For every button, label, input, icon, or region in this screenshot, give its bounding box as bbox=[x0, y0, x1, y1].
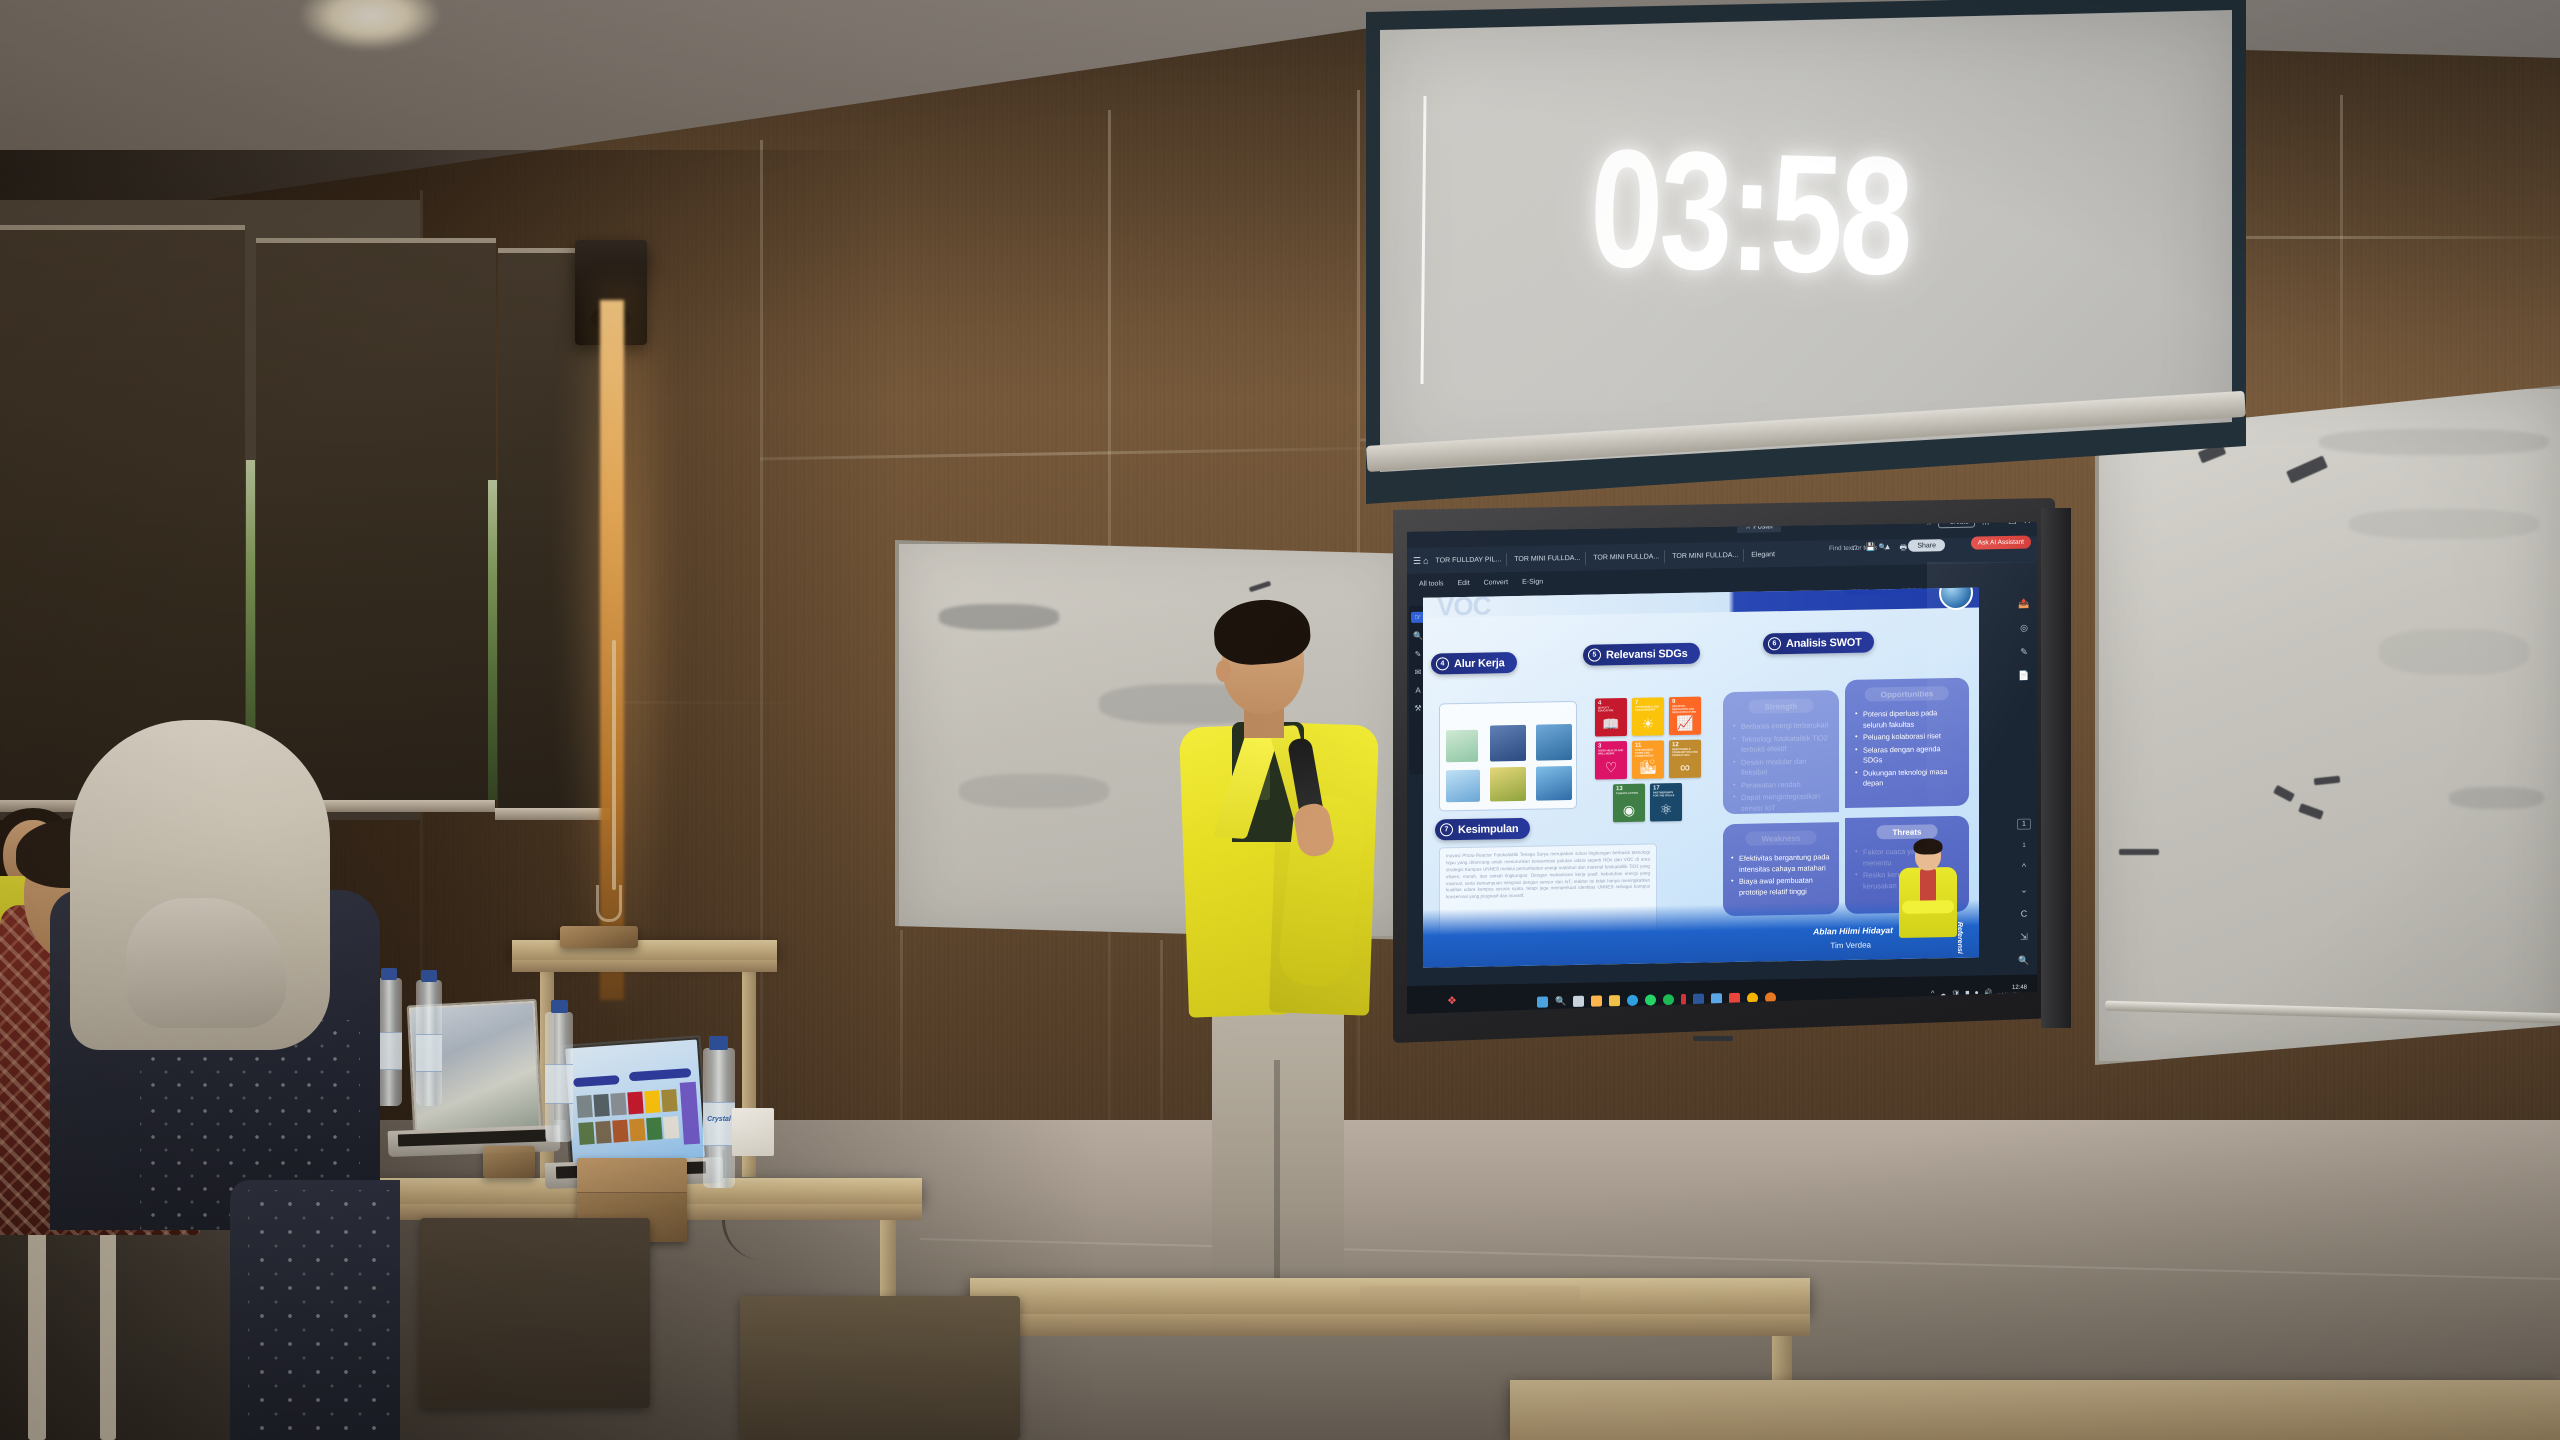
acrobat-right-toolrail[interactable]: 📤 ◎ ✎ 📄 1 1 ^ ⌄ C ⇲ 🔍 🔍 bbox=[2013, 590, 2035, 990]
section-label: Alur Kerja bbox=[1454, 657, 1505, 670]
close-button[interactable]: ✕ bbox=[2023, 522, 2031, 526]
folder-icon[interactable] bbox=[1609, 995, 1620, 1006]
clock-time: 12:48 bbox=[1997, 985, 2027, 993]
sdg-icon: 3 GOOD HEALTH AND WELL-BEING ♡ bbox=[1595, 741, 1627, 780]
sdg-label: INDUSTRY, INNOVATION AND INFRASTRUCTURE bbox=[1672, 706, 1698, 715]
whiteboard-mark bbox=[2286, 455, 2328, 483]
zoom-out-icon[interactable]: 🔍 bbox=[2018, 956, 2029, 967]
wooden-box-lid bbox=[577, 1158, 687, 1193]
menu-convert[interactable]: Convert bbox=[1484, 579, 1509, 586]
sdg-label: GOOD HEALTH AND WELL-BEING bbox=[1598, 750, 1624, 756]
file-explorer-icon[interactable] bbox=[1591, 995, 1602, 1006]
swot-weakness-list: Efektivitas bergantung pada intensitas c… bbox=[1731, 852, 1839, 900]
section-label: Kesimpulan bbox=[1458, 822, 1518, 835]
swot-strength-title: Strength bbox=[1749, 699, 1814, 714]
sdg-glyph-icon: ∞ bbox=[1680, 759, 1690, 775]
onedrive-icon[interactable] bbox=[1711, 993, 1722, 1004]
acrobat-window[interactable]: ☆ Poster x + Create ... – ❐ ✕ ☰ ⌂ bbox=[1407, 522, 2037, 1016]
sdg-glyph-icon: ⚛ bbox=[1660, 801, 1673, 818]
laptop-2-poster-icons bbox=[576, 1088, 695, 1148]
sdg-icon: 4 QUALITY EDUCATION 📖 bbox=[1595, 698, 1627, 737]
sdg-label: CLIMATE ACTION bbox=[1616, 793, 1642, 796]
whiteboard-smudge bbox=[2379, 629, 2529, 675]
smart-display[interactable]: ☆ Poster x + Create ... – ❐ ✕ ☰ ⌂ bbox=[1393, 498, 2055, 1043]
office-icon[interactable] bbox=[1681, 994, 1686, 1005]
tab-document-0[interactable]: TOR FULLDAY PIL... bbox=[1431, 553, 1508, 567]
far-table bbox=[1510, 1380, 2560, 1440]
section-pill-relevansi-sdgs: 5 Relevansi SDGs bbox=[1583, 643, 1700, 666]
list-item: Perawatan rendah bbox=[1733, 779, 1831, 791]
whiteboard-smudge bbox=[959, 774, 1109, 808]
whiteboard-mark bbox=[2449, 787, 2544, 809]
sdg-glyph-icon: 📈 bbox=[1676, 715, 1693, 732]
chair-front[interactable] bbox=[420, 1218, 650, 1408]
small-wooden-block bbox=[483, 1146, 535, 1178]
whiteboard-mark bbox=[2119, 849, 2159, 855]
save-icon[interactable]: 💾 bbox=[1866, 542, 1876, 556]
section-number: 5 bbox=[1588, 648, 1601, 661]
comment-icon[interactable]: ◎ bbox=[2020, 623, 2028, 634]
section-pill-alur-kerja: 4 Alur Kerja bbox=[1431, 652, 1517, 675]
flow-thumbnail bbox=[1536, 724, 1572, 761]
page-current[interactable]: 1 bbox=[2017, 819, 2031, 830]
swot-opportunities-list: Potensi diperluas pada seluruh fakultas … bbox=[1855, 708, 1961, 792]
bottle-cap bbox=[709, 1036, 728, 1050]
presenter-ear bbox=[1216, 660, 1231, 682]
table-cable-grommet bbox=[1360, 1286, 1580, 1308]
tab-document-4[interactable]: Elegant bbox=[1746, 548, 1780, 562]
menu-esign[interactable]: E-Sign bbox=[1522, 578, 1543, 585]
classroom-scene: 03:58 ☆ Poster x + Create ... – bbox=[0, 0, 2560, 1440]
presenter-portrait bbox=[1897, 840, 1959, 937]
sdg-glyph-icon: 📖 bbox=[1602, 716, 1619, 733]
bottle-cap bbox=[551, 1000, 568, 1013]
swot-opportunities-title: Opportunities bbox=[1865, 686, 1949, 702]
whiteboard-smudge bbox=[2349, 509, 2539, 539]
whiteboard-mark bbox=[1249, 581, 1271, 593]
hamburger-menu-icon[interactable]: ☰ bbox=[1413, 555, 1421, 566]
section-label: Analisis SWOT bbox=[1786, 636, 1862, 649]
sdg-icon: 11 SUSTAINABLE CITIES AND COMMUNITIES 🏙 bbox=[1632, 740, 1664, 779]
flow-thumbnail bbox=[1446, 730, 1478, 763]
zoom-tool-icon[interactable]: 🔍 bbox=[1413, 632, 1423, 641]
home-icon[interactable]: ⌂ bbox=[1423, 556, 1428, 566]
display-screen[interactable]: ☆ Poster x + Create ... – ❐ ✕ ☰ ⌂ bbox=[1407, 522, 2037, 1016]
sdg-icon: 17 PARTNERSHIPS FOR THE GOALS ⚛ bbox=[1650, 783, 1682, 822]
menu-edit[interactable]: Edit bbox=[1458, 579, 1470, 586]
list-item: Dukungan teknologi masa depan bbox=[1855, 767, 1961, 790]
draw-icon[interactable]: ⚒ bbox=[1414, 704, 1421, 713]
whiteboard-tray bbox=[2105, 1001, 2560, 1024]
search-icon[interactable]: 🔍 bbox=[1555, 996, 1566, 1007]
highlight-icon[interactable]: ✎ bbox=[1415, 650, 1422, 659]
sdg-glyph-icon: ◉ bbox=[1623, 802, 1635, 819]
portrait-shirt bbox=[1920, 868, 1936, 902]
hijab-dress-lower-pattern bbox=[248, 1190, 398, 1440]
sdg-glyph-icon: 🏙 bbox=[1639, 758, 1657, 775]
laptop-2-screen bbox=[565, 1040, 705, 1167]
section-number: 6 bbox=[1768, 637, 1781, 650]
tab-document-2[interactable]: TOR MINI FULLDA... bbox=[1588, 550, 1665, 564]
swot-weakness-title: Weakness bbox=[1746, 830, 1817, 845]
fill-sign-icon[interactable]: ✎ bbox=[2020, 647, 2028, 658]
poster-author-name: Ablan Hilmi Hidayat bbox=[1813, 925, 1893, 936]
headphones-icon[interactable]: ♫ bbox=[1852, 543, 1858, 557]
list-item: Selaras dengan agenda SDGs bbox=[1855, 744, 1961, 767]
white-box bbox=[732, 1108, 774, 1156]
flow-thumbnail bbox=[1446, 770, 1480, 803]
list-item: Desain modular dan fleksibel bbox=[1733, 756, 1831, 779]
poster-document[interactable]: VOC Sensor Kualitas Udara 4 Alur Kerja 5… bbox=[1423, 588, 1979, 968]
whiteboard-mark bbox=[2273, 785, 2295, 802]
bottle-brand-label: Crystal bbox=[703, 1116, 735, 1123]
display-brand-strip bbox=[1693, 1036, 1733, 1041]
poster-reference-label: Referensi bbox=[1956, 922, 1963, 954]
swot-strength: Strength Berbasis energi terbarukan Tekn… bbox=[1723, 690, 1839, 814]
panel-seam bbox=[2340, 95, 2343, 455]
word-icon[interactable] bbox=[1693, 994, 1704, 1005]
sdg-icon: 9 INDUSTRY, INNOVATION AND INFRASTRUCTUR… bbox=[1669, 697, 1701, 736]
section-number: 7 bbox=[1440, 823, 1453, 836]
display-side-panel bbox=[2041, 508, 2071, 1028]
section-pill-kesimpulan: 7 Kesimpulan bbox=[1435, 818, 1530, 841]
ask-ai-assistant-button[interactable]: Ask AI Assistant bbox=[1971, 536, 2031, 550]
portrait-arms bbox=[1902, 900, 1954, 914]
whiteboard-smudge bbox=[939, 604, 1059, 630]
tab-document-1[interactable]: TOR MINI FULLDA... bbox=[1509, 551, 1586, 565]
laptop-2-poster-pill bbox=[573, 1075, 620, 1087]
whiteboard-mark bbox=[2298, 803, 2324, 820]
list-item: Teknologi fotokatalitik TiO2 terbukti ef… bbox=[1733, 733, 1831, 756]
chevron-up-icon[interactable]: ^ bbox=[2022, 862, 2026, 872]
acrobat-toolbar-icons[interactable]: ♫ 💾 ▲ 🖶 bbox=[1852, 542, 1907, 557]
tab-document-3[interactable]: TOR MINI FULLDA... bbox=[1667, 548, 1744, 562]
blind-pull-cord[interactable] bbox=[612, 640, 616, 890]
sdg-icon-grid: 4 QUALITY EDUCATION 📖 7 AFFORDABLE AND C… bbox=[1595, 696, 1711, 822]
list-item: Potensi diperluas pada seluruh fakultas bbox=[1855, 708, 1961, 731]
bottle-label bbox=[703, 1102, 735, 1146]
organize-pages-icon[interactable]: 📄 bbox=[2018, 671, 2029, 682]
sdg-icon: 7 AFFORDABLE AND CLEAN ENERGY ☀ bbox=[1632, 697, 1664, 736]
student-presenter bbox=[1178, 600, 1388, 1290]
section-number: 4 bbox=[1436, 657, 1449, 670]
alur-kerja-diagram bbox=[1439, 701, 1577, 812]
whatsapp-icon[interactable] bbox=[1645, 994, 1656, 1005]
sdg-icon: 13 CLIMATE ACTION ◉ bbox=[1613, 784, 1645, 823]
list-item: Peluang kolaborasi riset bbox=[1855, 731, 1961, 744]
window-gap-foliage bbox=[488, 480, 497, 800]
spotify-icon[interactable] bbox=[1663, 994, 1674, 1005]
sdg-glyph-icon: ♡ bbox=[1605, 759, 1618, 776]
swot-threats-title: Threats bbox=[1877, 824, 1938, 839]
podium-wooden-item bbox=[560, 926, 638, 948]
upload-icon[interactable]: ▲ bbox=[1884, 542, 1892, 556]
projector-guide-line bbox=[1420, 96, 1426, 384]
podium-table-top bbox=[512, 940, 777, 960]
section-label: Relevansi SDGs bbox=[1606, 647, 1688, 660]
maximize-button[interactable]: ❐ bbox=[2008, 522, 2016, 526]
presenter-trousers bbox=[1212, 1000, 1344, 1290]
bottle-label bbox=[545, 1064, 573, 1104]
start-icon[interactable]: ❖ bbox=[1447, 994, 1457, 1007]
share-button[interactable]: Share bbox=[1908, 539, 1945, 552]
text-icon[interactable]: A bbox=[1415, 686, 1420, 695]
sdg-label: QUALITY EDUCATION bbox=[1598, 707, 1624, 713]
acrobat-icon[interactable] bbox=[1729, 993, 1740, 1004]
laptop-2-poster-pill bbox=[629, 1068, 691, 1081]
widgets-icon[interactable] bbox=[1573, 996, 1584, 1007]
page-total: 1 bbox=[2022, 843, 2025, 849]
sdg-glyph-icon: ☀ bbox=[1642, 715, 1655, 732]
portrait-hair bbox=[1914, 838, 1943, 855]
window-blind[interactable] bbox=[0, 225, 245, 805]
edge-icon[interactable] bbox=[1627, 995, 1638, 1006]
sdg-label: SUSTAINABLE CITIES AND COMMUNITIES bbox=[1635, 749, 1661, 758]
list-item: Berbasis energi terbarukan bbox=[1733, 720, 1831, 732]
rotate-icon[interactable]: C bbox=[2021, 909, 2028, 919]
comment-icon[interactable]: ✉ bbox=[1415, 668, 1422, 677]
list-item: Biaya awal pembuatan prototipe relatif t… bbox=[1731, 875, 1839, 898]
poster-team-name: Tim Verdea bbox=[1830, 940, 1871, 950]
foreground-table-edge bbox=[970, 1314, 1810, 1336]
fit-page-icon[interactable]: ⇲ bbox=[2020, 932, 2028, 943]
chevron-down-icon[interactable]: ⌄ bbox=[2020, 885, 2028, 896]
sdg-label: AFFORDABLE AND CLEAN ENERGY bbox=[1635, 706, 1661, 712]
poster-ghost-text: VOC bbox=[1437, 590, 1490, 622]
export-pdf-icon[interactable]: 📤 bbox=[2018, 599, 2029, 610]
menu-all-tools[interactable]: All tools bbox=[1419, 580, 1444, 587]
flow-thumbnail bbox=[1490, 767, 1526, 802]
section-pill-analisis-swot: 6 Analisis SWOT bbox=[1763, 631, 1874, 654]
print-icon[interactable]: 🖶 bbox=[1899, 542, 1907, 556]
chair-seat[interactable] bbox=[740, 1296, 1020, 1440]
poster-footer bbox=[1423, 900, 1979, 968]
list-item: Efektivitas bergantung pada intensitas c… bbox=[1731, 852, 1839, 875]
laptop-2-poster-sidebar bbox=[680, 1082, 700, 1145]
laptop-2-lid bbox=[561, 1035, 709, 1170]
swot-opportunities: Opportunities Potensi diperluas pada sel… bbox=[1845, 678, 1969, 808]
whiteboard-mark bbox=[2314, 776, 2341, 786]
podium-table-edge bbox=[512, 960, 777, 972]
sdg-label: RESPONSIBLE CONSUMPTION AND PRODUCTION bbox=[1672, 749, 1698, 758]
swot-strength-list: Berbasis energi terbarukan Teknologi fot… bbox=[1733, 720, 1831, 816]
task-view-icon[interactable] bbox=[1537, 996, 1548, 1007]
list-item: Dapat mengintegrasikan sensor IoT bbox=[1733, 792, 1831, 815]
sdg-icon: 12 RESPONSIBLE CONSUMPTION AND PRODUCTIO… bbox=[1669, 740, 1701, 779]
flow-thumbnail bbox=[1490, 725, 1526, 762]
sdg-label: PARTNERSHIPS FOR THE GOALS bbox=[1653, 792, 1679, 798]
whiteboard-smudge bbox=[2319, 429, 2549, 455]
flow-thumbnail bbox=[1536, 766, 1572, 801]
projector-screen: 03:58 bbox=[1366, 0, 2246, 504]
countdown-timer: 03:58 bbox=[1584, 123, 1916, 300]
